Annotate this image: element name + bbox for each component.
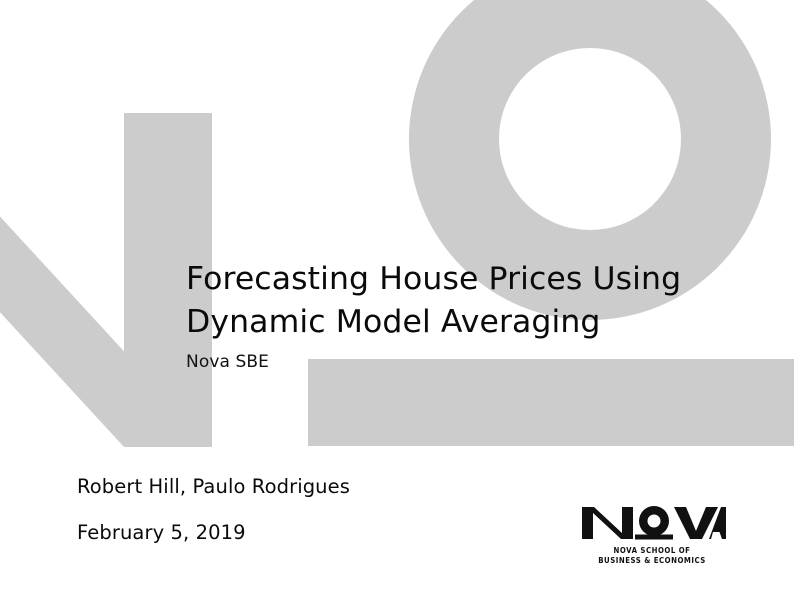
date-line: February 5, 2019 xyxy=(77,520,537,546)
nova-logo-wordmark-icon xyxy=(578,503,726,543)
institute-subtitle: Nova SBE xyxy=(186,351,746,373)
author-date-block: Robert Hill, Paulo Rodrigues February 5,… xyxy=(77,474,537,546)
title-block: Forecasting House Prices Using Dynamic M… xyxy=(186,258,746,373)
nova-sbe-logo: NOVA SCHOOL OF BUSINESS & ECONOMICS xyxy=(578,503,726,569)
logo-tagline: NOVA SCHOOL OF BUSINESS & ECONOMICS xyxy=(584,546,720,566)
title-slide: Forecasting House Prices Using Dynamic M… xyxy=(0,0,794,597)
authors-line: Robert Hill, Paulo Rodrigues xyxy=(77,474,537,500)
watermark-letter-n xyxy=(0,113,212,447)
page-title-line-2: Dynamic Model Averaging xyxy=(186,301,746,344)
logo-tagline-line-2: BUSINESS & ECONOMICS xyxy=(584,556,720,566)
logo-tagline-line-1: NOVA SCHOOL OF xyxy=(584,546,720,556)
page-title-line-1: Forecasting House Prices Using xyxy=(186,258,746,301)
